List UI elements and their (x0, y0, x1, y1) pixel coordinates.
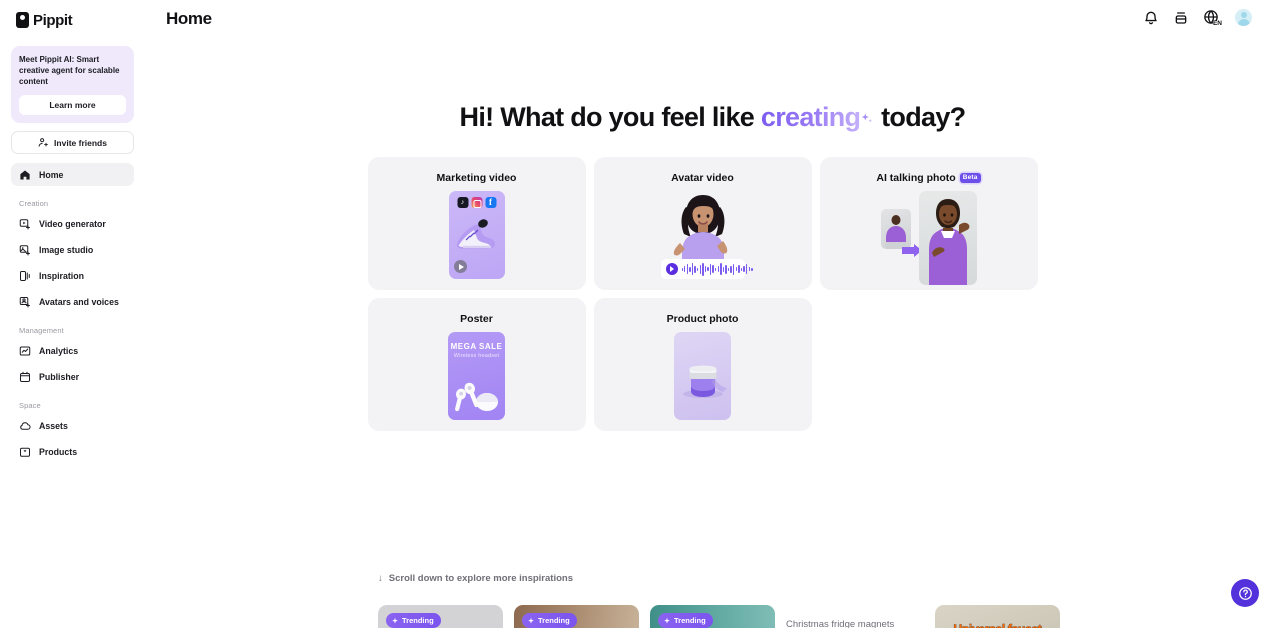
card-avatar-video[interactable]: Avatar video (594, 157, 812, 290)
user-plus-icon (38, 137, 49, 148)
sidebar-item-home-label: Home (39, 170, 63, 180)
page-heading: Hi! What do you feel like creating today… (145, 40, 1280, 133)
sidebar-nav: Home Creation Video generator Image stud… (11, 163, 134, 463)
trending-badge: Trending (658, 613, 713, 628)
sidebar-item-video-generator-label: Video generator (39, 219, 106, 229)
learn-more-button[interactable]: Learn more (19, 95, 126, 115)
audio-waveform (682, 262, 753, 276)
card-poster-thumb: MEGA SALE Wireless headset (368, 332, 586, 425)
sidebar: Pippit Meet Pippit AI: Smart creative ag… (0, 0, 145, 628)
trending-badge-label: Trending (674, 616, 706, 625)
pippit-logo-icon (16, 12, 29, 28)
card-poster-title: Poster (368, 298, 586, 325)
card-ai-talking-photo-title: AI talking photo Beta (820, 157, 1038, 184)
quick-action-cards: Marketing video (368, 157, 1058, 431)
help-button[interactable] (1231, 579, 1259, 607)
sidebar-item-image-studio[interactable]: Image studio (11, 238, 134, 261)
trending-card-1[interactable]: Trending (378, 605, 503, 628)
language-switcher[interactable]: EN (1203, 9, 1221, 26)
tiktok-icon (457, 197, 468, 208)
home-icon (19, 169, 31, 181)
sparkle-icon (663, 617, 671, 625)
question-mark-icon (1238, 586, 1253, 601)
facebook-icon (485, 197, 496, 208)
sparkle-icon (860, 109, 874, 129)
card-ai-talking-photo[interactable]: AI talking photo Beta (820, 157, 1038, 290)
sidebar-item-avatars-and-voices-label: Avatars and voices (39, 297, 119, 307)
scroll-hint: ↓ Scroll down to explore more inspiratio… (378, 573, 573, 584)
invite-friends-label: Invite friends (54, 138, 107, 148)
trending-caption: Christmas fridge magnets (786, 605, 924, 628)
avatar-person-thumb (655, 191, 751, 283)
scroll-hint-arrow: ↓ (378, 573, 383, 584)
trending-badge-label: Trending (402, 616, 434, 625)
mega-sale-poster-thumb: MEGA SALE Wireless headset (448, 332, 505, 420)
sidebar-item-publisher[interactable]: Publisher (11, 365, 134, 388)
main-content: Hi! What do you feel like creating today… (145, 40, 1280, 628)
poster-headline: MEGA SALE (448, 342, 505, 351)
result-person-image (919, 191, 977, 285)
trending-badge-label: Trending (538, 616, 570, 625)
promo-text: Meet Pippit AI: Smart creative agent for… (19, 55, 126, 87)
sidebar-item-analytics[interactable]: Analytics (11, 339, 134, 362)
top-bar: Home EN (145, 0, 1280, 40)
card-product-photo[interactable]: Product photo (594, 298, 812, 431)
sparkle-icon (391, 617, 399, 625)
video-plus-icon (19, 218, 31, 230)
trending-card-4[interactable]: Universal faucet (935, 605, 1060, 628)
sneaker-image (453, 215, 501, 255)
sneaker-phone-thumb (449, 191, 505, 279)
play-icon (454, 260, 467, 273)
analytics-icon (19, 345, 31, 357)
promo-card: Meet Pippit AI: Smart creative agent for… (11, 46, 134, 123)
sidebar-group-management: Management (11, 316, 134, 339)
sidebar-item-analytics-label: Analytics (39, 346, 78, 356)
invite-friends-button[interactable]: Invite friends (11, 131, 134, 154)
cloud-icon (19, 420, 31, 432)
card-marketing-video[interactable]: Marketing video (368, 157, 586, 290)
page-title: Home (166, 9, 212, 29)
sidebar-item-publisher-label: Publisher (39, 372, 79, 382)
sidebar-item-inspiration-label: Inspiration (39, 271, 84, 281)
trending-card-3[interactable]: Trending (650, 605, 775, 628)
sidebar-item-products[interactable]: Products (11, 440, 134, 463)
sidebar-item-avatars-and-voices[interactable]: Avatars and voices (11, 290, 134, 313)
avatar[interactable] (1235, 9, 1252, 26)
poster-subline: Wireless headset (448, 353, 505, 359)
card-marketing-video-title: Marketing video (368, 157, 586, 184)
sidebar-item-video-generator[interactable]: Video generator (11, 212, 134, 235)
avatar-plus-icon (19, 296, 31, 308)
audio-player[interactable] (661, 259, 745, 279)
cosmetic-jar-image (674, 332, 731, 420)
sidebar-item-home[interactable]: Home (11, 163, 134, 186)
box-icon (19, 446, 31, 458)
language-label: EN (1213, 21, 1222, 28)
beta-badge: Beta (960, 173, 981, 183)
brand-logo[interactable]: Pippit (11, 0, 134, 40)
trending-badge: Trending (386, 613, 441, 628)
heading-highlight: creating (761, 102, 860, 132)
sparkle-icon (527, 617, 535, 625)
sidebar-group-creation: Creation (11, 189, 134, 212)
cosmetic-jar-thumb (674, 332, 731, 420)
photo-to-talking-thumb (881, 191, 977, 285)
bell-icon[interactable] (1143, 10, 1159, 26)
sidebar-item-assets[interactable]: Assets (11, 414, 134, 437)
top-bar-actions: EN (1143, 9, 1252, 26)
calendar-icon (19, 371, 31, 383)
result-photo (919, 191, 977, 285)
sidebar-item-inspiration[interactable]: Inspiration (11, 264, 134, 287)
card-marketing-video-thumb (368, 191, 586, 284)
card-product-photo-thumb (594, 332, 812, 425)
card-avatar-video-title: Avatar video (594, 157, 812, 184)
audio-play-icon[interactable] (666, 263, 678, 275)
sidebar-item-products-label: Products (39, 447, 77, 457)
card-avatar-video-thumb (594, 191, 812, 284)
faucet-card-text: Universal faucet (954, 622, 1042, 628)
brand-name: Pippit (33, 12, 72, 29)
earbuds-image (448, 366, 505, 416)
card-ai-talking-photo-label: AI talking photo (876, 172, 955, 184)
sidebar-item-assets-label: Assets (39, 421, 68, 431)
app-root: Pippit Meet Pippit AI: Smart creative ag… (0, 0, 1280, 628)
image-plus-icon (19, 244, 31, 256)
sidebar-group-space: Space (11, 391, 134, 414)
layers-icon[interactable] (1173, 10, 1189, 26)
social-icons-row (457, 197, 496, 208)
trending-row: Trending Trending Trending Christmas fri… (378, 605, 1060, 628)
heading-prefix: Hi! What do you feel like (460, 102, 761, 132)
instagram-icon (471, 197, 482, 208)
cards-icon (19, 270, 31, 282)
card-product-photo-title: Product photo (594, 298, 812, 325)
trending-badge: Trending (522, 613, 577, 628)
heading-suffix: today? (874, 102, 965, 132)
card-ai-talking-photo-thumb (820, 191, 1038, 284)
trending-card-2[interactable]: Trending (514, 605, 639, 628)
scroll-hint-text: Scroll down to explore more inspirations (389, 573, 573, 584)
card-poster[interactable]: Poster MEGA SALE Wireless headset (368, 298, 586, 431)
sidebar-item-image-studio-label: Image studio (39, 245, 93, 255)
